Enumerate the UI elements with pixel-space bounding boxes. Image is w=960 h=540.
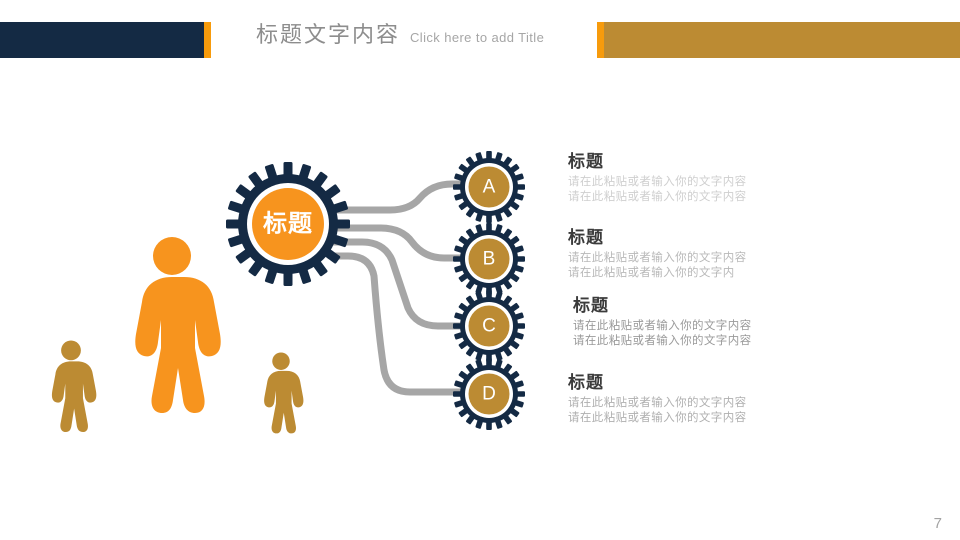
person-figure-small-left (52, 341, 96, 433)
node-d-label: D (482, 384, 496, 405)
diagram-stage: 标题 (0, 70, 960, 500)
node-c-label: C (482, 316, 496, 337)
person-figure-small-right (264, 352, 303, 433)
slide-canvas: 标题文字内容 Click here to add Title (0, 0, 960, 540)
text-block-b-line1: 请在此粘贴或者输入你的文字内容 (568, 251, 747, 267)
text-block-a[interactable]: 标题 请在此粘贴或者输入你的文字内容 请在此粘贴或者输入你的文字内容 (568, 152, 747, 206)
text-block-d-line1: 请在此粘贴或者输入你的文字内容 (568, 396, 747, 412)
node-gear-a: A (453, 151, 525, 223)
person-figure-large-center (135, 237, 220, 413)
text-block-c-title: 标题 (573, 296, 752, 316)
page-title-en: Click here to add Title (410, 31, 544, 44)
text-block-c[interactable]: 标题 请在此粘贴或者输入你的文字内容 请在此粘贴或者输入你的文字内容 (573, 296, 752, 350)
text-block-c-line1: 请在此粘贴或者输入你的文字内容 (573, 319, 752, 335)
center-gear-label: 标题 (263, 211, 313, 238)
page-title: 标题文字内容 Click here to add Title (256, 24, 544, 46)
text-block-b-line2: 请在此粘贴或者输入你的文字内 (568, 266, 747, 282)
text-block-b[interactable]: 标题 请在此粘贴或者输入你的文字内容 请在此粘贴或者输入你的文字内 (568, 228, 747, 282)
text-block-d[interactable]: 标题 请在此粘贴或者输入你的文字内容 请在此粘贴或者输入你的文字内容 (568, 373, 747, 427)
node-gear-b: B (453, 223, 525, 295)
header-navy-bar (0, 22, 204, 58)
page-number: 7 (934, 515, 942, 532)
header-gold-bar (604, 22, 960, 58)
center-gear-node: 标题 (226, 162, 350, 286)
page-title-cn: 标题文字内容 (256, 24, 400, 46)
text-block-b-title: 标题 (568, 228, 747, 248)
node-a-label: A (483, 177, 496, 198)
text-block-a-line1: 请在此粘贴或者输入你的文字内容 (568, 175, 747, 191)
connector-lines (330, 184, 470, 392)
text-block-d-title: 标题 (568, 373, 747, 393)
node-gear-c: C (453, 290, 525, 362)
node-b-label: B (483, 249, 496, 270)
text-block-a-line2: 请在此粘贴或者输入你的文字内容 (568, 190, 747, 206)
header-navy-accent-stripe (204, 22, 211, 58)
text-block-a-title: 标题 (568, 152, 747, 172)
text-block-c-line2: 请在此粘贴或者输入你的文字内容 (573, 334, 752, 350)
text-block-d-line2: 请在此粘贴或者输入你的文字内容 (568, 411, 747, 427)
connector-line-a (330, 184, 470, 210)
header-gold-accent-stripe (597, 22, 604, 58)
node-gear-d: D (453, 358, 525, 430)
